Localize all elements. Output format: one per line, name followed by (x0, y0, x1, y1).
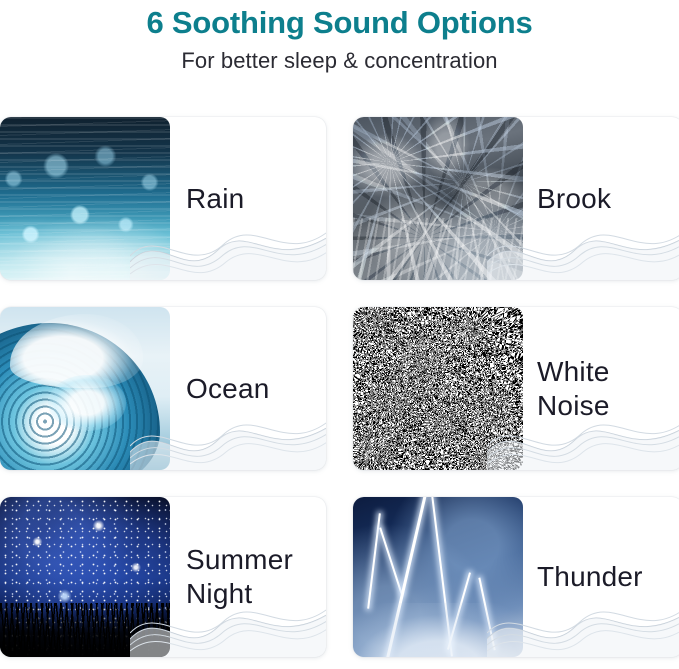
card-label: Thunder (537, 497, 677, 657)
ocean-image (0, 307, 170, 470)
card-label: Rain (186, 117, 320, 280)
sound-option-card[interactable]: Rain (0, 113, 340, 303)
sound-option-card[interactable]: Ocean (0, 303, 340, 493)
card-surface[interactable]: Rain (0, 117, 326, 280)
card-surface[interactable]: Brook (353, 117, 679, 280)
summer-night-image (0, 497, 170, 657)
page-title: 6 Soothing Sound Options (0, 4, 679, 42)
page-subtitle: For better sleep & concentration (0, 42, 679, 76)
sound-options-grid: Rain Brook (0, 113, 679, 669)
brook-image (353, 117, 523, 280)
card-surface[interactable]: Summer Night (0, 497, 326, 657)
sound-option-card[interactable]: Thunder (340, 493, 679, 669)
card-label: White Noise (537, 307, 677, 470)
card-surface[interactable]: Thunder (353, 497, 679, 657)
sound-option-card[interactable]: Summer Night (0, 493, 340, 669)
card-label: Brook (537, 117, 677, 280)
sound-option-card[interactable]: Brook (340, 113, 679, 303)
card-surface[interactable]: White Noise (353, 307, 679, 470)
card-label: Ocean (186, 307, 320, 470)
card-surface[interactable]: Ocean (0, 307, 326, 470)
white-noise-image (353, 307, 523, 470)
thunder-image (353, 497, 523, 657)
rain-image (0, 117, 170, 280)
sound-option-card[interactable]: White Noise (340, 303, 679, 493)
page-header: 6 Soothing Sound Options For better slee… (0, 0, 679, 76)
card-label: Summer Night (186, 497, 320, 657)
